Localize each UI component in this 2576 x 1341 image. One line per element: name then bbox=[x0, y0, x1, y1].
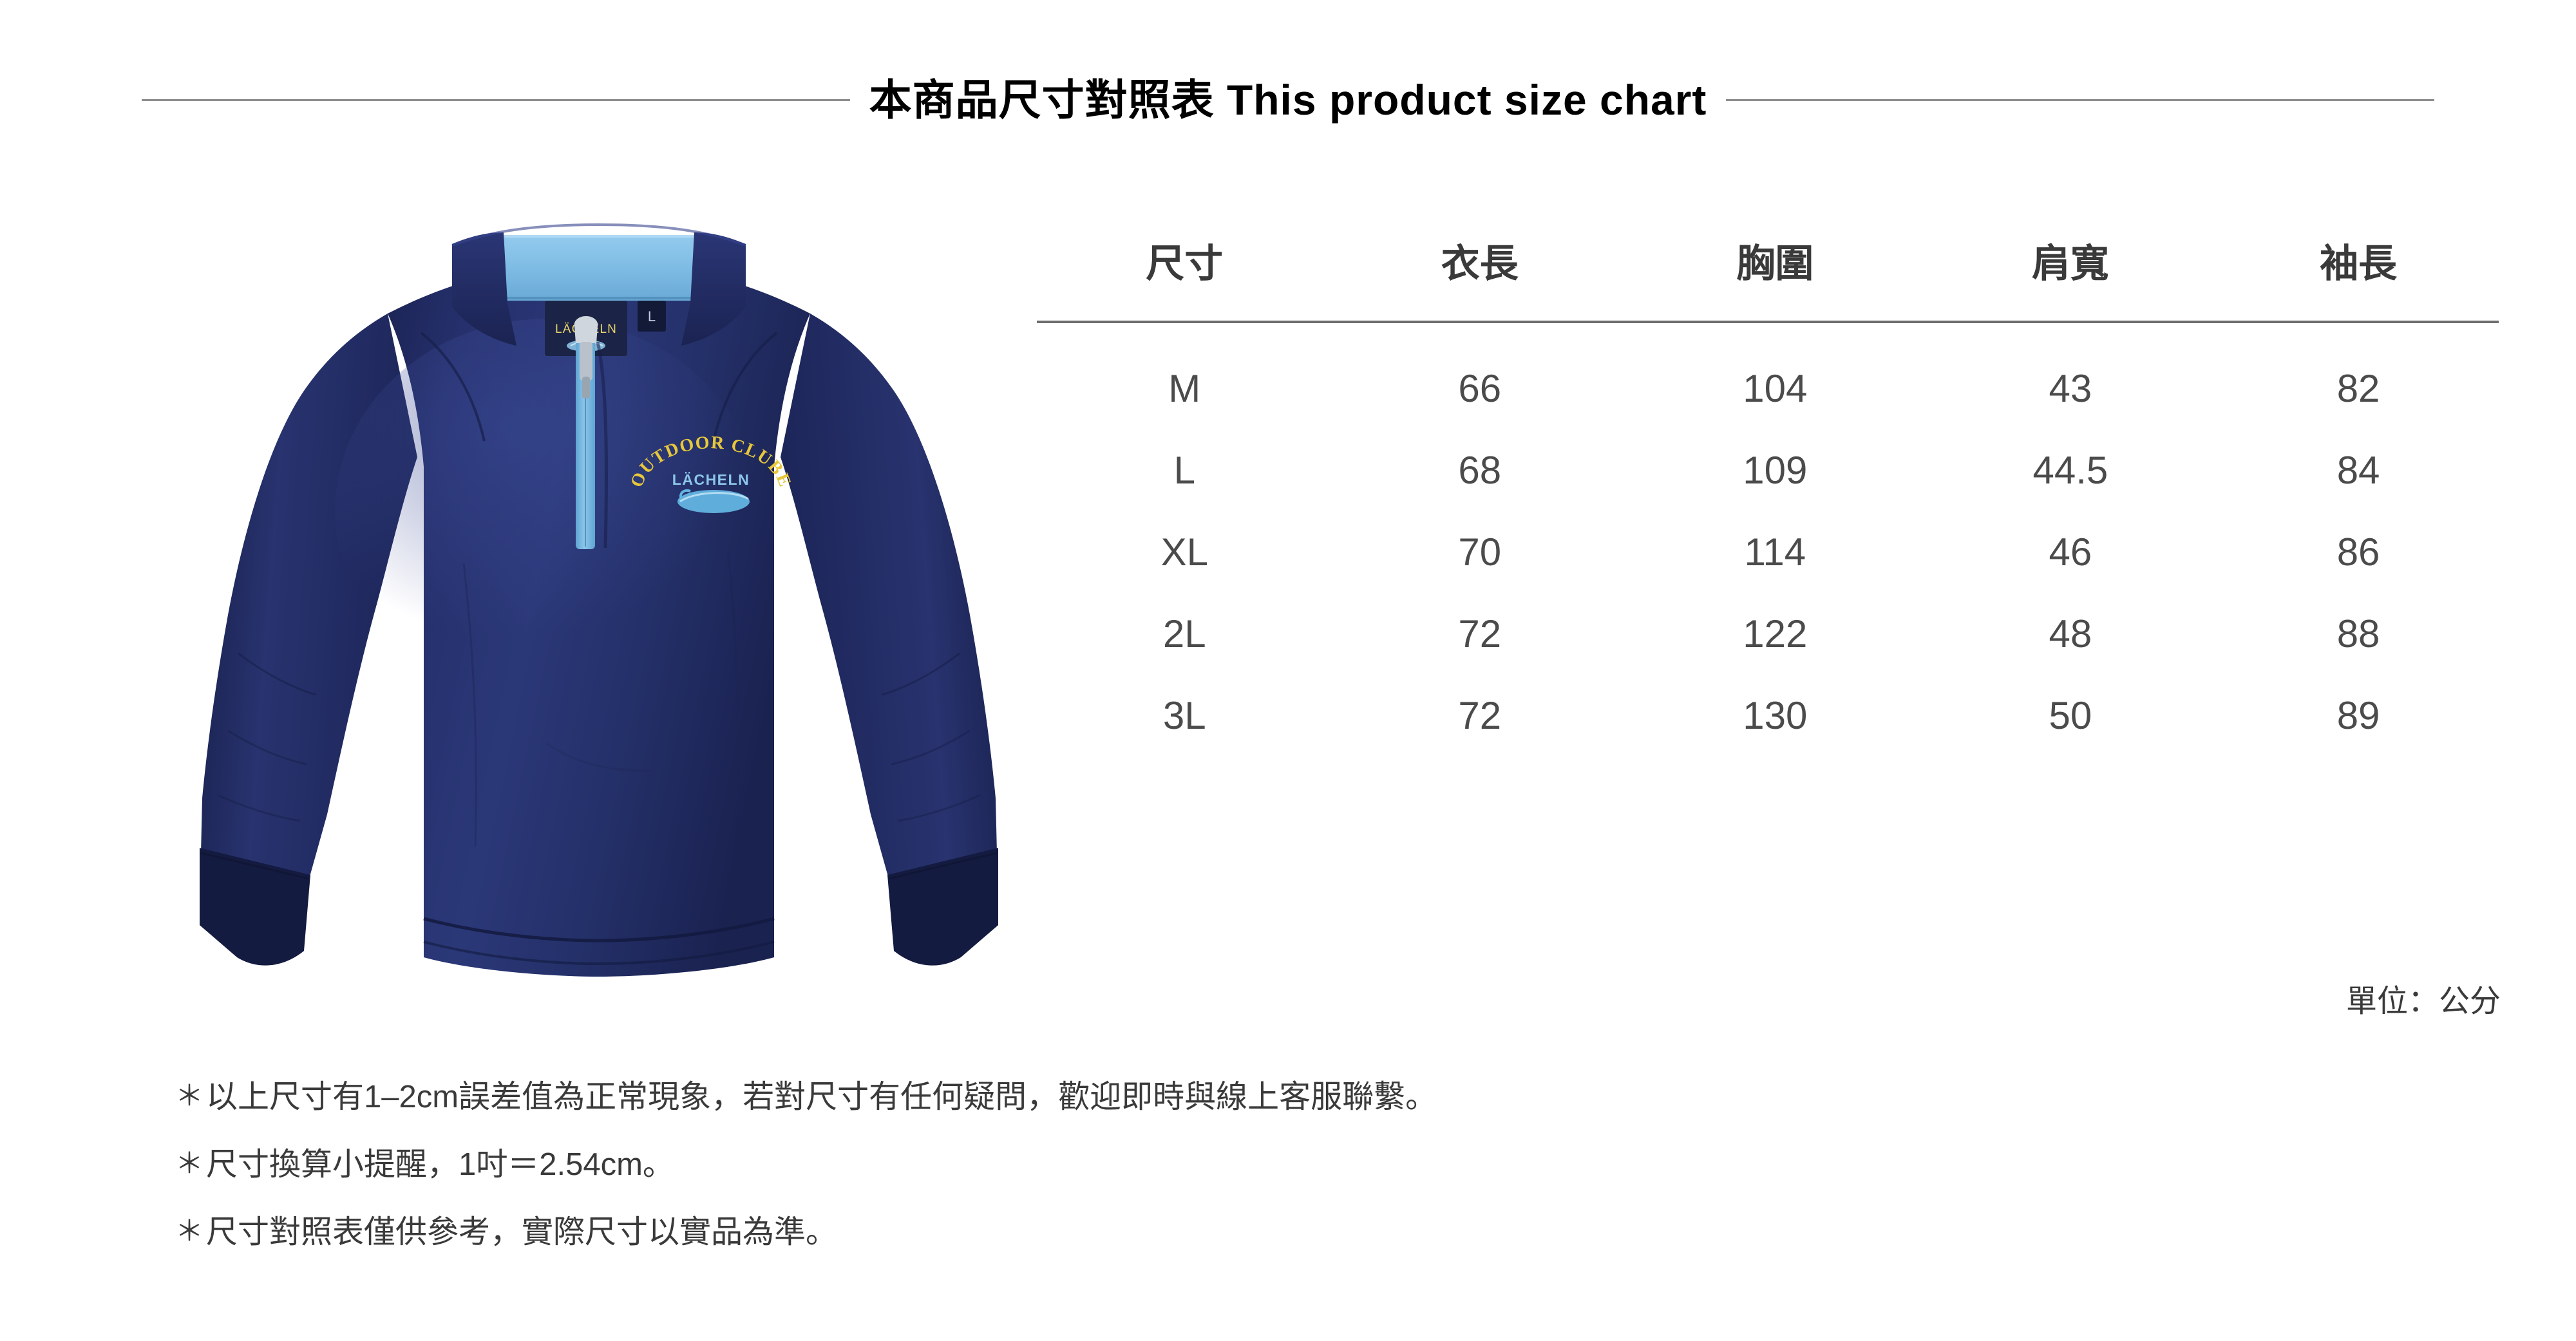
cell-sleeve: 88 bbox=[2218, 593, 2499, 675]
table-row: 3L 72 130 50 89 bbox=[1037, 675, 2499, 756]
cell-shoulder: 46 bbox=[1923, 511, 2219, 593]
asterisk-icon: ＊ bbox=[175, 1150, 204, 1178]
footnote-tolerance-text: 以上尺寸有1–2cm誤差值為正常現象，若對尺寸有任何疑問，歡迎即時與線上客服聯繫… bbox=[206, 1080, 1437, 1114]
asterisk-icon: ＊ bbox=[175, 1217, 204, 1246]
column-header-shoulder: 肩寬 bbox=[1923, 245, 2219, 322]
cell-length: 66 bbox=[1332, 322, 1628, 429]
garment-right-sleeve bbox=[781, 314, 998, 966]
cell-length: 72 bbox=[1332, 593, 1628, 675]
cell-shoulder: 43 bbox=[1923, 322, 2219, 429]
column-header-chest: 胸圍 bbox=[1627, 245, 1923, 322]
cell-sleeve: 89 bbox=[2218, 675, 2499, 756]
footnote-conversion-text: 尺寸換算小提醒，1吋＝2.54cm。 bbox=[206, 1147, 674, 1182]
cell-chest: 122 bbox=[1627, 593, 1923, 675]
table-row: 2L 72 122 48 88 bbox=[1037, 593, 2499, 675]
unit-note: 單位：公分 bbox=[2346, 986, 2501, 1017]
page-title: 本商品尺寸對照表 This product size chart bbox=[869, 79, 1707, 121]
cell-chest: 109 bbox=[1627, 429, 1923, 511]
table-row: M 66 104 43 82 bbox=[1037, 322, 2499, 429]
footnote-reference-text: 尺寸對照表僅供參考，實際尺寸以實品為準。 bbox=[206, 1215, 837, 1250]
chest-logo-word-text: LÄCHELN bbox=[672, 471, 750, 488]
cell-size: 2L bbox=[1037, 593, 1332, 675]
table-row: XL 70 114 46 86 bbox=[1037, 511, 2499, 593]
cell-shoulder: 44.5 bbox=[1923, 429, 2219, 511]
cell-sleeve: 86 bbox=[2218, 511, 2499, 593]
cell-size: XL bbox=[1037, 511, 1332, 593]
cell-chest: 130 bbox=[1627, 675, 1923, 756]
garment-body bbox=[335, 270, 810, 977]
asterisk-icon: ＊ bbox=[175, 1082, 204, 1111]
cell-size: 3L bbox=[1037, 675, 1332, 756]
table-row: L 68 109 44.5 84 bbox=[1037, 429, 2499, 511]
product-image: LÄCHELN L bbox=[161, 164, 1037, 995]
cell-sleeve: 84 bbox=[2218, 429, 2499, 511]
footnote-reference: ＊尺寸對照表僅供參考，實際尺寸以實品為準。 bbox=[175, 1217, 2429, 1248]
column-header-length: 衣長 bbox=[1332, 245, 1628, 322]
decorative-rule-left bbox=[142, 99, 850, 101]
size-tag: L bbox=[638, 301, 666, 332]
size-table: 尺寸 衣長 胸圍 肩寬 袖長 M 66 104 43 82 L 68 bbox=[1037, 245, 2499, 756]
column-header-sleeve: 袖長 bbox=[2218, 245, 2499, 322]
column-header-size: 尺寸 bbox=[1037, 245, 1332, 322]
footnote-tolerance: ＊以上尺寸有1–2cm誤差值為正常現象，若對尺寸有任何疑問，歡迎即時與線上客服聯… bbox=[175, 1082, 2429, 1113]
garment-illustration: LÄCHELN L bbox=[161, 164, 1037, 995]
footnote-conversion: ＊尺寸換算小提醒，1吋＝2.54cm。 bbox=[175, 1149, 2429, 1181]
cell-size: M bbox=[1037, 322, 1332, 429]
table-header-row: 尺寸 衣長 胸圍 肩寬 袖長 bbox=[1037, 245, 2499, 322]
cell-length: 72 bbox=[1332, 675, 1628, 756]
cell-shoulder: 48 bbox=[1923, 593, 2219, 675]
size-tag-text: L bbox=[648, 308, 656, 324]
cell-chest: 114 bbox=[1627, 511, 1923, 593]
size-chart-page: 本商品尺寸對照表 This product size chart bbox=[0, 0, 2576, 1341]
cell-shoulder: 50 bbox=[1923, 675, 2219, 756]
title-row: 本商品尺寸對照表 This product size chart bbox=[0, 71, 2576, 129]
cell-chest: 104 bbox=[1627, 322, 1923, 429]
decorative-rule-right bbox=[1726, 99, 2434, 101]
cell-sleeve: 82 bbox=[2218, 322, 2499, 429]
size-table-container: 尺寸 衣長 胸圍 肩寬 袖長 M 66 104 43 82 L 68 bbox=[1037, 245, 2499, 756]
cell-length: 68 bbox=[1332, 429, 1628, 511]
cell-size: L bbox=[1037, 429, 1332, 511]
cell-length: 70 bbox=[1332, 511, 1628, 593]
footnotes-block: ＊以上尺寸有1–2cm誤差值為正常現象，若對尺寸有任何疑問，歡迎即時與線上客服聯… bbox=[175, 1082, 2429, 1248]
